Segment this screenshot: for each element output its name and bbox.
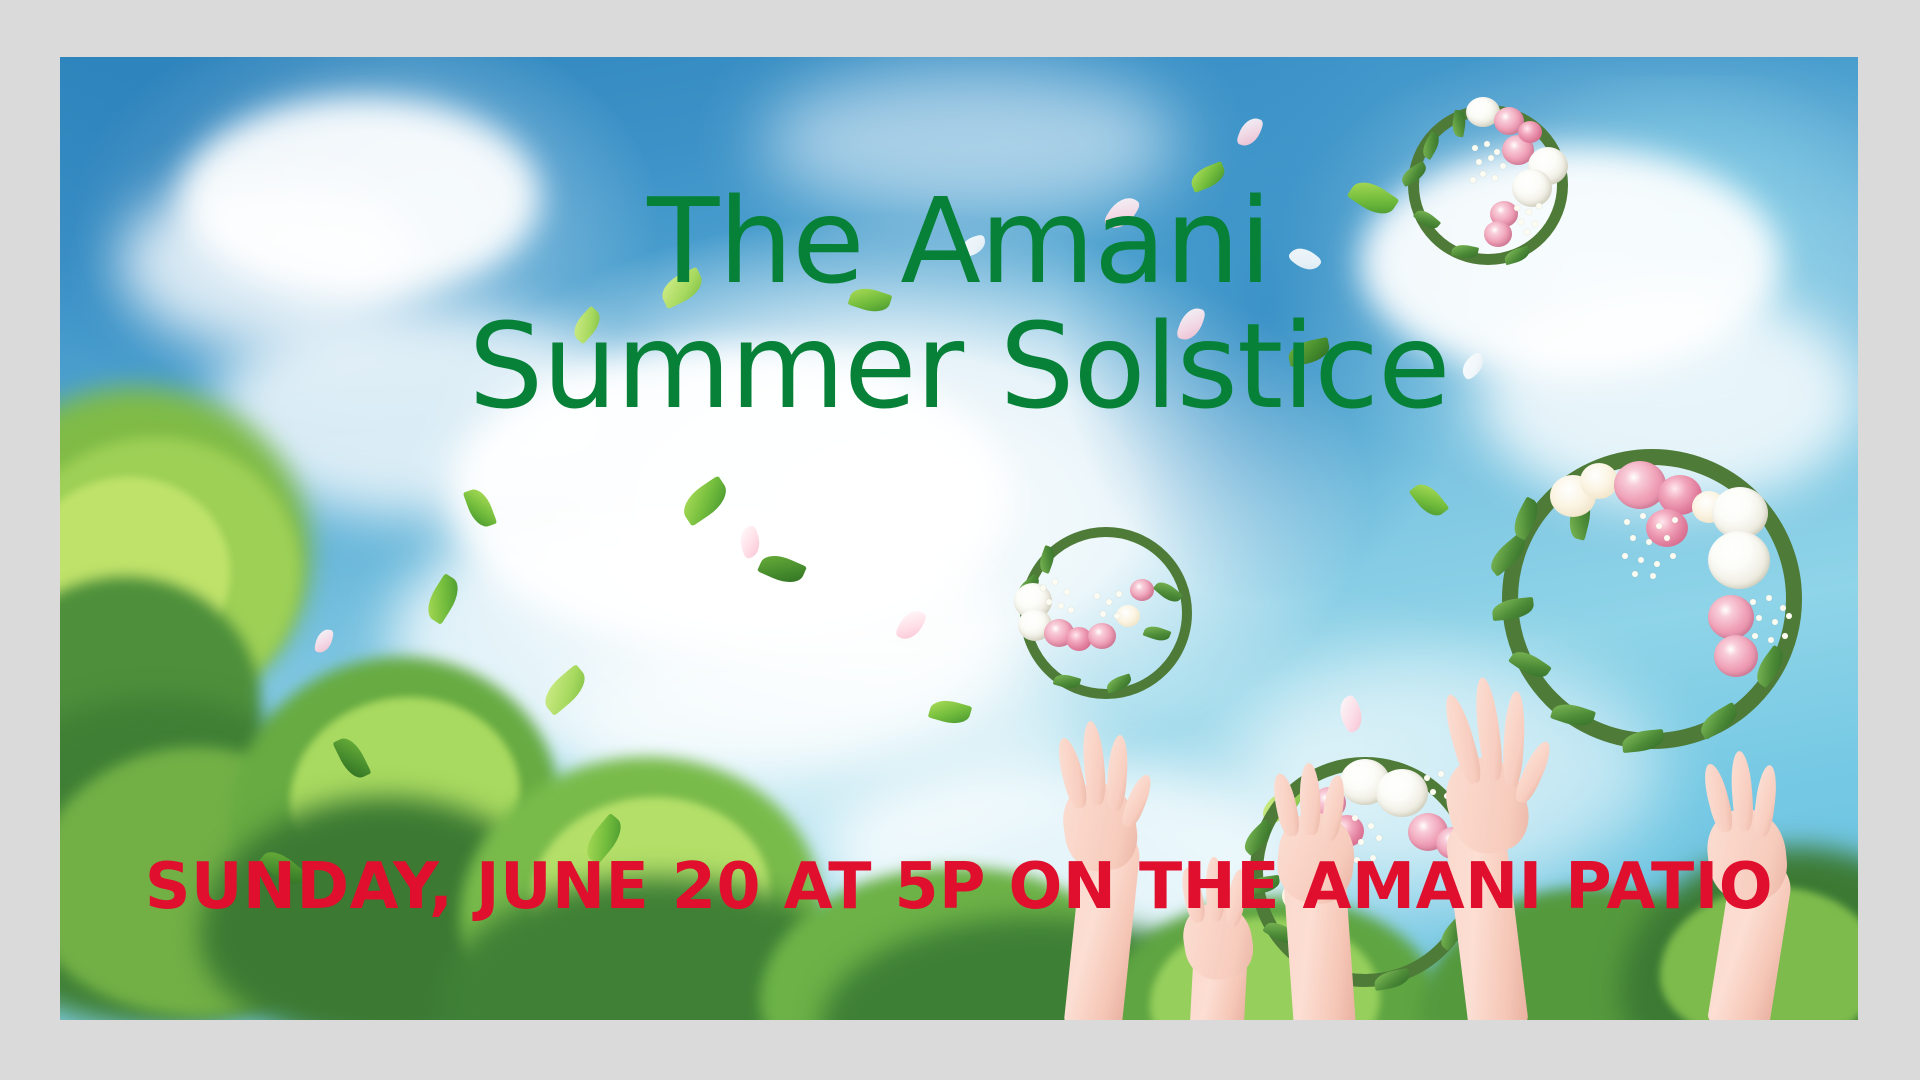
baby-breath-sprig bbox=[1040, 579, 1076, 617]
page-title: The Amani Summer Solstice bbox=[60, 179, 1858, 429]
rose-pink bbox=[1088, 623, 1116, 649]
rose-deep bbox=[1518, 121, 1542, 143]
baby-breath-sprig bbox=[1092, 591, 1126, 625]
baby-breath-sprig bbox=[1620, 513, 1684, 579]
page-root: The Amani Summer Solstice SUNDAY, JUNE 2… bbox=[0, 0, 1920, 1080]
flower-crown-center bbox=[1020, 527, 1192, 699]
rose-pink bbox=[1614, 461, 1666, 509]
title-line-1: The Amani bbox=[60, 179, 1858, 304]
rose-white bbox=[1376, 769, 1428, 817]
event-details-text: SUNDAY, JUNE 20 AT 5P ON THE AMANI PATIO bbox=[69, 855, 1849, 919]
rose-pink bbox=[1130, 579, 1154, 601]
title-line-2: Summer Solstice bbox=[60, 304, 1858, 429]
rose-white bbox=[1708, 531, 1770, 589]
flower-crown-right-large bbox=[1502, 449, 1802, 749]
rose-bud-cream bbox=[1580, 463, 1618, 499]
baby-breath-sprig bbox=[1748, 595, 1796, 647]
flyer-image: The Amani Summer Solstice SUNDAY, JUNE 2… bbox=[60, 57, 1858, 1020]
